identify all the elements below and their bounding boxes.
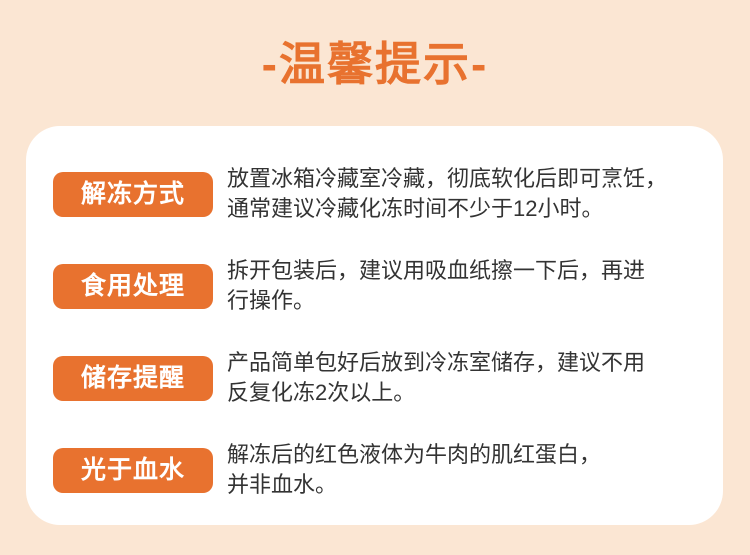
tips-panel: -温馨提示- 解冻方式 放置冰箱冷藏室冷藏，彻底软化后即可烹饪， 通常建议冷藏化… [0, 0, 750, 555]
tips-row-text-storage: 产品简单包好后放到冷冻室储存，建议不用 反复化冻2次以上。 [227, 348, 713, 408]
tips-row-badge-preparation: 食用处理 [53, 264, 213, 309]
tips-row: 食用处理 拆开包装后，建议用吸血纸擦一下后，再进 行操作。 [53, 264, 713, 316]
tips-row-badge-blood-water: 光于血水 [53, 448, 213, 493]
tips-row-text-thaw-method: 放置冰箱冷藏室冷藏，彻底软化后即可烹饪， 通常建议冷藏化冻时间不少于12小时。 [227, 164, 713, 224]
tips-row: 解冻方式 放置冰箱冷藏室冷藏，彻底软化后即可烹饪， 通常建议冷藏化冻时间不少于1… [53, 172, 713, 224]
tips-row-list: 解冻方式 放置冰箱冷藏室冷藏，彻底软化后即可烹饪， 通常建议冷藏化冻时间不少于1… [53, 172, 713, 500]
tips-row-text-preparation: 拆开包装后，建议用吸血纸擦一下后，再进 行操作。 [227, 256, 713, 316]
page-title-text: -温馨提示- [262, 36, 489, 92]
tips-row-badge-thaw-method: 解冻方式 [53, 172, 213, 217]
tips-row: 光于血水 解冻后的红色液体为牛肉的肌红蛋白， 并非血水。 [53, 448, 713, 500]
page-title: -温馨提示- [0, 36, 750, 92]
tips-row-text-blood-water: 解冻后的红色液体为牛肉的肌红蛋白， 并非血水。 [227, 440, 713, 500]
tips-row: 储存提醒 产品简单包好后放到冷冻室储存，建议不用 反复化冻2次以上。 [53, 356, 713, 408]
tips-row-badge-storage: 储存提醒 [53, 356, 213, 401]
